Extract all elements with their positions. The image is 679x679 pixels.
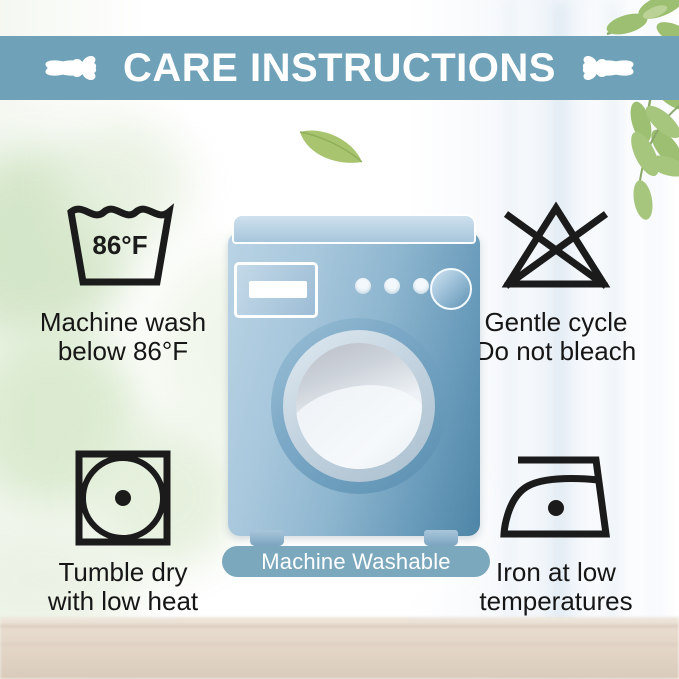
care-instructions-infographic: CARE INSTRUCTIONS 86°F Machine wash belo… xyxy=(0,0,679,679)
iron-icon xyxy=(494,452,618,544)
tumble-dry-square-circle-icon xyxy=(73,448,173,548)
tumble-dry-icon-wrap xyxy=(8,446,238,550)
control-indicator-lights xyxy=(355,278,429,294)
machine-wash-label: Machine wash below 86°F xyxy=(8,308,238,366)
door-glass-highlight xyxy=(296,373,422,469)
wash-temperature-text: 86°F xyxy=(92,230,147,260)
machine-washable-badge: Machine Washable xyxy=(222,546,490,577)
door-outer-ring xyxy=(271,318,447,494)
fleur-de-lis-left-icon xyxy=(41,46,97,90)
wash-basin-icon: 86°F xyxy=(61,198,185,298)
care-symbol-tumble-dry: Tumble dry with low heat xyxy=(8,446,238,616)
page-title: CARE INSTRUCTIONS xyxy=(123,48,556,88)
washing-machine-top-lid xyxy=(232,214,476,244)
green-leaf-icon xyxy=(296,122,366,168)
detergent-drawer xyxy=(234,262,318,318)
machine-wash-label-line2: below 86°F xyxy=(8,337,238,366)
detergent-drawer-slot xyxy=(249,281,307,298)
machine-washable-badge-text: Machine Washable xyxy=(261,549,450,575)
tumble-dry-label-line2: with low heat xyxy=(8,587,238,616)
program-dial xyxy=(430,268,472,310)
door-glass xyxy=(296,343,422,469)
indicator-light xyxy=(384,278,400,294)
machine-foot-left xyxy=(250,530,284,546)
background-wood-surface xyxy=(0,617,679,679)
iron-label-line2: temperatures xyxy=(441,587,671,616)
door-inner-ring xyxy=(283,330,435,482)
indicator-light xyxy=(355,278,371,294)
fleur-de-lis-right-icon xyxy=(582,46,638,90)
care-instructions-banner: CARE INSTRUCTIONS xyxy=(0,36,679,100)
machine-wash-label-line1: Machine wash xyxy=(8,308,238,337)
care-symbol-machine-wash: 86°F Machine wash below 86°F xyxy=(8,196,238,366)
tumble-dry-label: Tumble dry with low heat xyxy=(8,558,238,616)
washing-machine-illustration xyxy=(228,214,480,536)
triangle-crossed-out-icon xyxy=(496,198,616,298)
indicator-light xyxy=(413,278,429,294)
wash-basin-icon-wrap: 86°F xyxy=(8,196,238,300)
washing-machine-body xyxy=(228,232,480,536)
tumble-dry-label-line1: Tumble dry xyxy=(8,558,238,587)
machine-foot-right xyxy=(424,530,458,546)
